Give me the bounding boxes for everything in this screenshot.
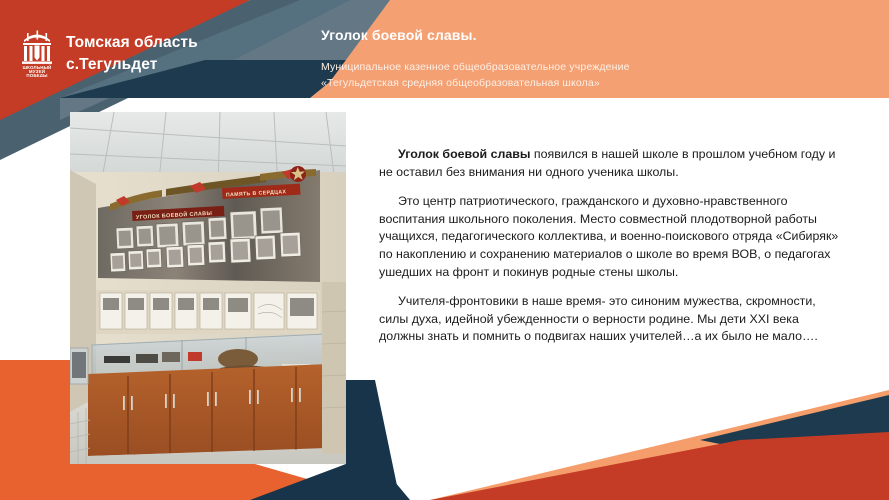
paragraph-2: Это центр патриотического, гражданского … <box>379 193 841 281</box>
slide-header: ШКОЛЬНЫЙ МУЗЕЙ ПОБЕДЫ Томская область с.… <box>0 0 889 98</box>
brand-logo-block: ШКОЛЬНЫЙ МУЗЕЙ ПОБЕДЫ <box>14 27 60 77</box>
body-text: Уголок боевой славы появился в нашей шко… <box>379 146 841 346</box>
deco-navy-bottomleft <box>260 464 400 500</box>
region-title: Томская область с.Тегульдет <box>66 32 291 76</box>
museum-photo-image: УГОЛОК БОЕВОЙ СЛАВЫ ПАМЯТЬ В СЕРДЦАХ <box>70 112 346 464</box>
deco-red-bottomright <box>430 432 889 500</box>
paragraph-2-rest: Это центр патриотического, гражданского … <box>379 194 838 278</box>
deco-navy-bottom-fill <box>250 464 410 500</box>
deco-orange-diag-br <box>430 390 889 500</box>
paragraph-1-lead: Уголок боевой славы <box>398 147 530 161</box>
paragraph-1: Уголок боевой славы появился в нашей шко… <box>379 146 841 181</box>
paragraph-3: Учителя-фронтовики в наше время- это син… <box>379 293 841 346</box>
deco-navy-diag-br <box>700 395 889 452</box>
school-victory-museum-logo-icon: ШКОЛЬНЫЙ МУЗЕЙ ПОБЕДЫ <box>14 27 60 77</box>
museum-photo: УГОЛОК БОЕВОЙ СЛАВЫ ПАМЯТЬ В СЕРДЦАХ <box>70 112 346 464</box>
slide-title: Уголок боевой славы. <box>321 27 477 43</box>
slide-subtitle: Муниципальное казенное общеобразовательн… <box>321 59 781 92</box>
svg-text:ПОБЕДЫ: ПОБЕДЫ <box>26 73 47 77</box>
slide-canvas: ШКОЛЬНЫЙ МУЗЕЙ ПОБЕДЫ Томская область с.… <box>0 0 889 500</box>
paragraph-3-rest: Учителя-фронтовики в наше время- это син… <box>379 294 818 343</box>
deco-navy-right-of-photo <box>346 380 400 500</box>
